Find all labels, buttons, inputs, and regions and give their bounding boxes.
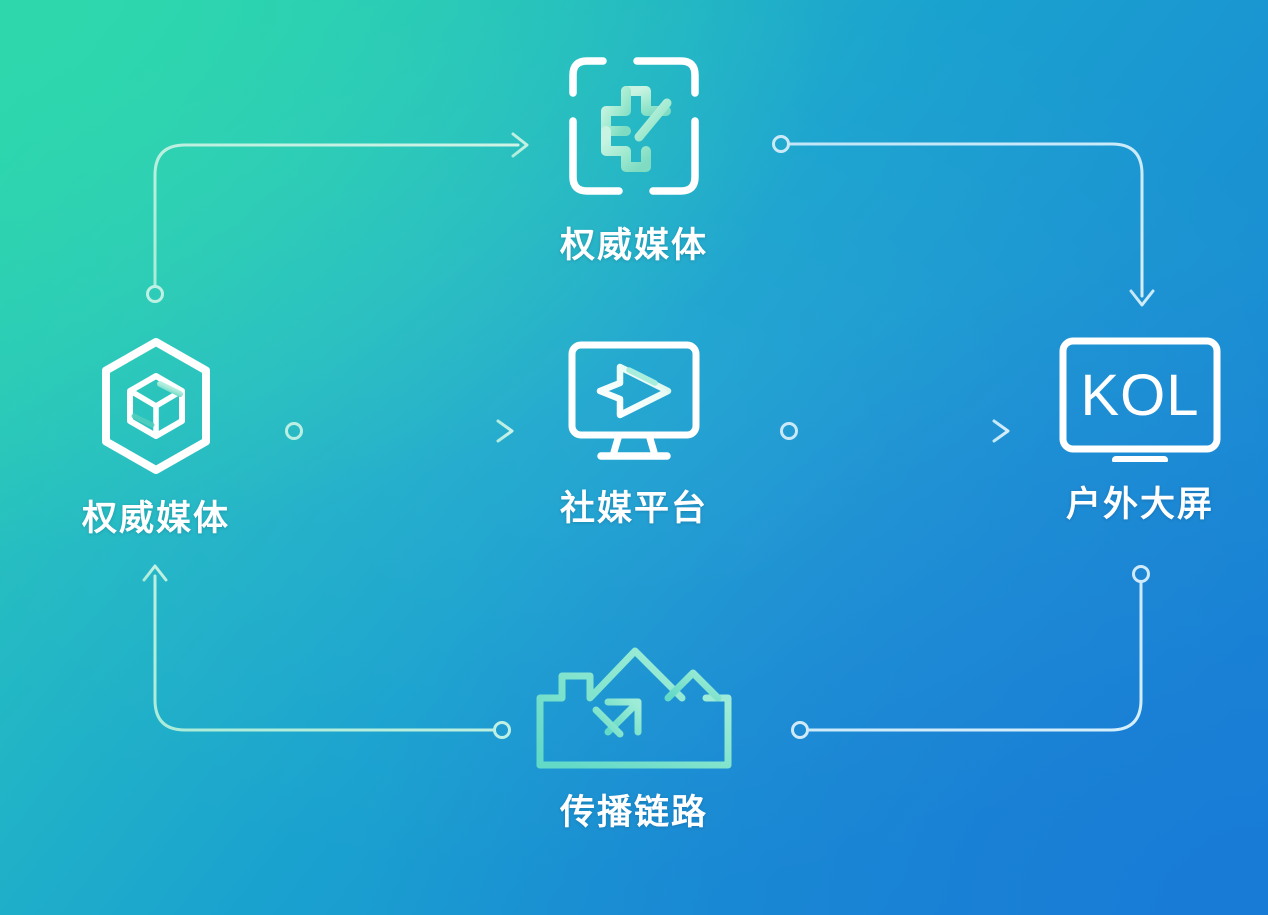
node-top-authoritative-media[interactable]: 权威媒体 (0, 55, 1268, 268)
endpoint-circle-icon (148, 287, 163, 302)
node-bottom-label: 传播链路 (560, 784, 708, 835)
node-center-label: 社媒平台 (560, 480, 708, 531)
node-bottom-communication-chain[interactable]: 传播链路 (0, 640, 1268, 835)
billboard-kol-text: KOL (1080, 363, 1199, 428)
buildings-arrow-icon (534, 640, 734, 770)
diagram-canvas: 权威媒体 (0, 0, 1268, 915)
scan-frame-cross-icon (567, 55, 701, 203)
monitor-play-icon (567, 340, 701, 466)
node-top-label: 权威媒体 (560, 217, 708, 268)
node-right-outdoor-screen[interactable]: KOL 户外大屏 (1020, 336, 1260, 527)
billboard-screen-icon: KOL (1058, 336, 1222, 462)
node-right-label: 户外大屏 (1066, 476, 1214, 527)
endpoint-circle-icon (1134, 567, 1149, 582)
